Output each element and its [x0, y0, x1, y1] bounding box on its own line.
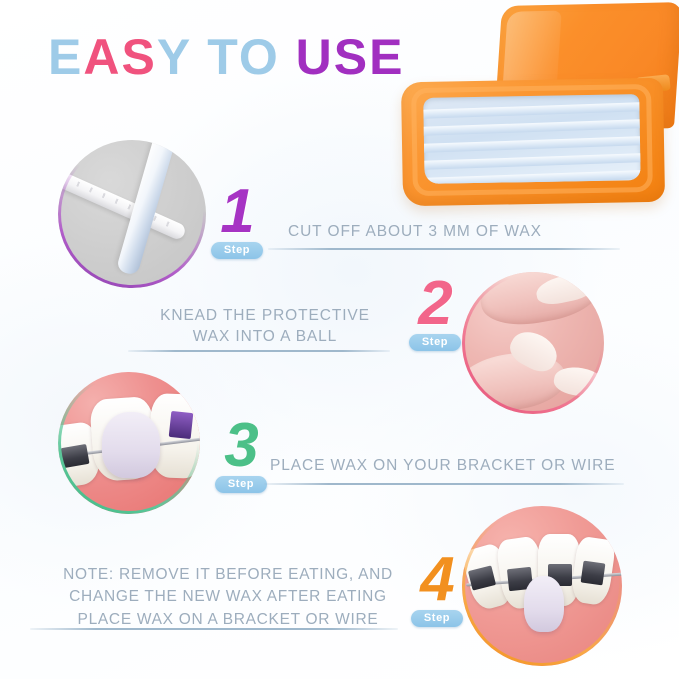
wax-strip: [423, 136, 640, 153]
case-base: [401, 78, 665, 207]
title-letter: O: [239, 29, 280, 85]
wax-strip: [423, 153, 640, 170]
step-1-image: [58, 140, 206, 288]
step-3-divider: [264, 483, 624, 485]
step-4-photo: [462, 506, 622, 666]
wax-blob-shape: [524, 576, 564, 632]
step-3-image: [58, 372, 200, 514]
step-1-photo: [58, 140, 206, 288]
bracket-shape: [581, 561, 606, 586]
step-2-marker: 2 Step: [404, 276, 466, 351]
orange-wax-case-photo: [398, 2, 679, 214]
title-letter: S: [121, 29, 156, 85]
step-2-number: 2: [404, 276, 466, 332]
fingernail-shape: [552, 364, 604, 401]
title-space: [280, 29, 296, 85]
wax-blob-shape: [102, 412, 160, 478]
step-4-image: [462, 506, 622, 666]
note-text: NOTE: REMOVE IT BEFORE EATING, AND CHANG…: [38, 564, 418, 631]
step-3-caption: PLACE WAX ON YOUR BRACKET OR WIRE: [270, 456, 630, 477]
step-3-marker: 3 Step: [210, 418, 272, 493]
step-1-divider: [268, 248, 620, 250]
title-letter: A: [83, 29, 121, 85]
step-3-badge: Step: [215, 476, 267, 493]
note-divider: [30, 628, 398, 630]
wax-strip: [423, 102, 640, 119]
wax-strip-tray: [423, 94, 640, 184]
step-4-badge: Step: [411, 610, 463, 627]
title-letter: S: [334, 29, 369, 85]
step-3-number: 3: [210, 418, 272, 474]
title-letter: E: [48, 29, 83, 85]
title-letter: U: [296, 29, 334, 85]
step-2-caption: KNEAD THE PROTECTIVE WAX INTO A BALL: [140, 306, 390, 348]
step-2-badge: Step: [409, 334, 461, 351]
title-letter: Y: [157, 29, 191, 85]
title-letter: T: [207, 29, 239, 85]
step-1-marker: 1 Step: [206, 184, 268, 259]
step-2-divider: [128, 350, 390, 352]
wax-stick-shape: [58, 171, 187, 242]
wax-strip: [423, 119, 640, 136]
step-1-number: 1: [206, 184, 268, 240]
wax-strip: [423, 170, 640, 184]
step-2-photo: [462, 272, 604, 414]
step-3-photo: [58, 372, 200, 514]
easy-to-use-infographic: EASY TO USE 1 Step CUT OFF ABOUT 3 MM: [0, 0, 679, 679]
bracket-shape: [169, 411, 194, 439]
title-space: [191, 29, 207, 85]
step-1-caption: CUT OFF ABOUT 3 MM OF WAX: [288, 222, 618, 243]
step-1-badge: Step: [211, 242, 263, 259]
page-title: EASY TO USE: [48, 32, 404, 82]
step-2-image: [462, 272, 604, 414]
